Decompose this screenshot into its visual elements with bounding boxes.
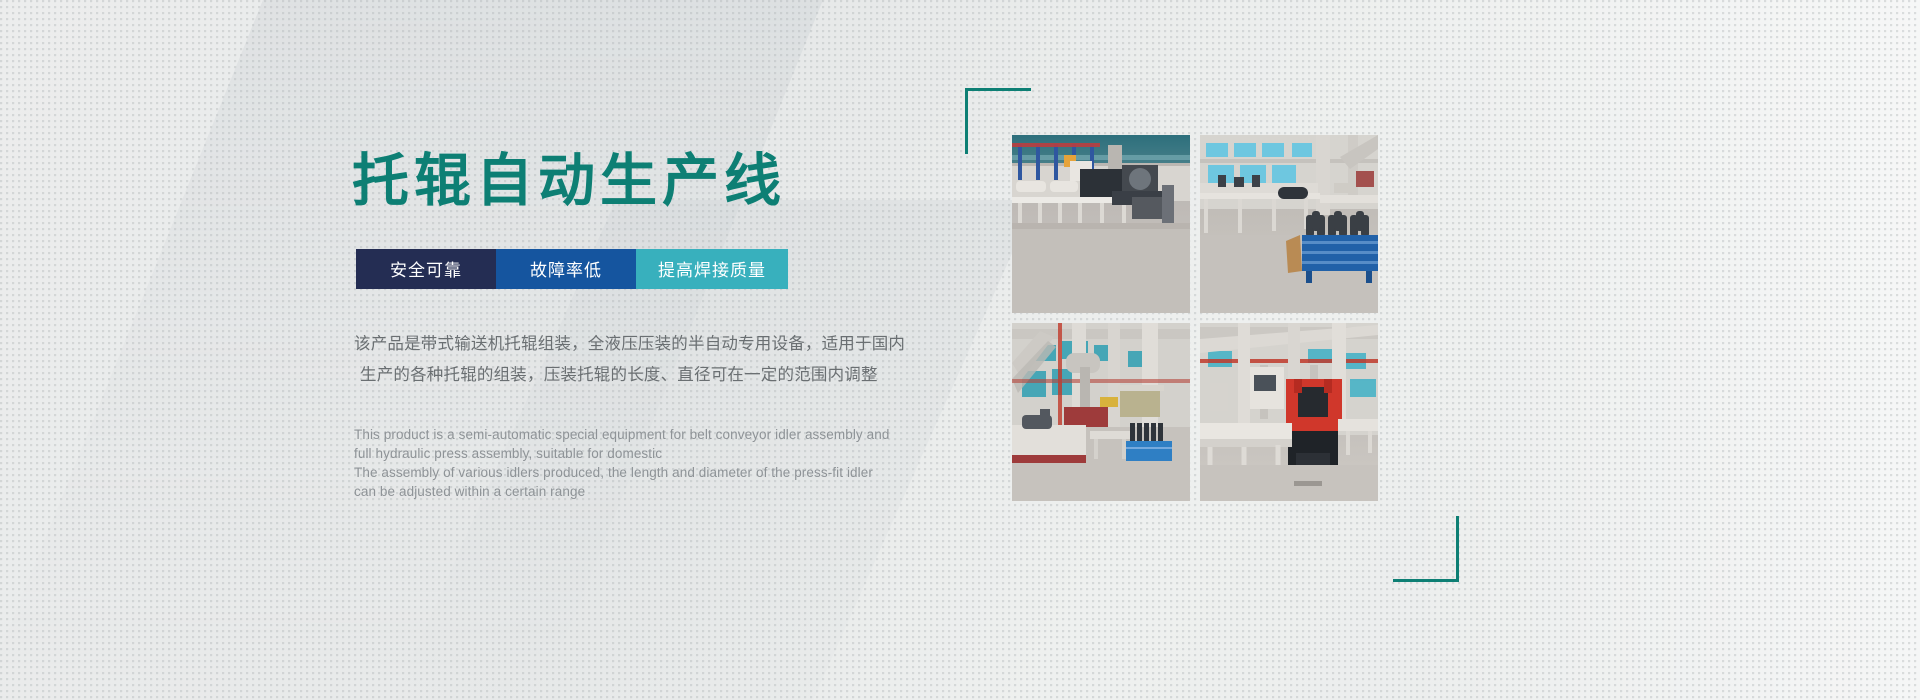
badge-improve-weld-quality[interactable]: 提高焊接质量: [636, 249, 788, 289]
factory-assembly-hall-image: [1012, 323, 1190, 501]
gallery-photo-4[interactable]: [1200, 323, 1378, 501]
product-banner: 托辊自动生产线 安全可靠 故障率低 提高焊接质量 该产品是带式输送机托辊组装，全…: [0, 0, 1920, 700]
description-english-line-1: This product is a semi-automatic special…: [354, 425, 914, 444]
factory-red-press-machine-image: [1200, 323, 1378, 501]
description-english: This product is a semi-automatic special…: [354, 425, 914, 501]
description-english-line-3: The assembly of various idlers produced,…: [354, 463, 914, 482]
description-chinese: 该产品是带式输送机托辊组装，全液压压装的半自动专用设备，适用于国内 生产的各种托…: [354, 329, 982, 391]
photo-grid: [1012, 135, 1378, 501]
gallery-photo-3[interactable]: [1012, 323, 1190, 501]
corner-bracket-bottom-right-icon: [1393, 516, 1459, 582]
page-title: 托辊自动生产线: [352, 150, 982, 213]
description-english-line-4: can be adjusted within a certain range: [354, 482, 914, 501]
factory-conveyor-line-image: [1012, 135, 1190, 313]
description-chinese-line-1: 该产品是带式输送机托辊组装，全液压压装的半自动专用设备，适用于国内: [354, 329, 982, 360]
description-english-line-2: full hydraulic press assembly, suitable …: [354, 444, 914, 463]
badge-low-failure-rate[interactable]: 故障率低: [496, 249, 636, 289]
gallery-photo-2[interactable]: [1200, 135, 1378, 313]
background-right-wash: [1400, 0, 1920, 700]
gallery-photo-1[interactable]: [1012, 135, 1190, 313]
badge-safe-reliable[interactable]: 安全可靠: [356, 249, 496, 289]
description-chinese-line-2: 生产的各种托辊的组装，压装托辊的长度、直径可在一定的范围内调整: [354, 360, 982, 391]
feature-badge-group: 安全可靠 故障率低 提高焊接质量: [356, 249, 788, 289]
factory-roller-bin-image: [1200, 135, 1378, 313]
copy-block: 托辊自动生产线 安全可靠 故障率低 提高焊接质量 该产品是带式输送机托辊组装，全…: [352, 150, 982, 501]
photo-gallery: [1012, 135, 1412, 535]
